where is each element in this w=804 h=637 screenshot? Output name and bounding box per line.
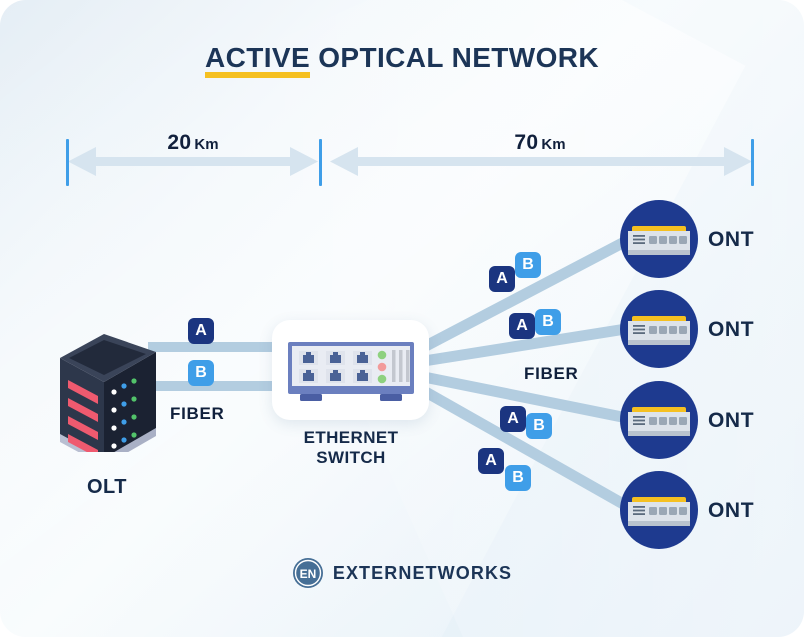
badge-letter: A [496,271,508,287]
badge-a-olt-link[interactable]: A [188,318,214,344]
fiber-line-olt-b [148,381,286,391]
ont-label-4: ONT [708,499,754,523]
switch-led-red [378,363,387,372]
badge-a-ont-3[interactable]: A [500,406,526,432]
externetworks-monogram-icon: EN [292,557,324,589]
badge-b-ont-2[interactable]: B [535,309,561,335]
badge-letter: B [195,365,207,381]
fiber-label-left: FIBER [170,404,225,424]
badge-letter: A [516,318,528,334]
olt-rack-icon [52,322,162,452]
fiber-label-right: FIBER [524,364,579,384]
ont-node-1[interactable] [620,200,698,278]
ont-node-2[interactable] [620,290,698,368]
badge-a-ont-4[interactable]: A [478,448,504,474]
badge-letter: B [533,418,545,434]
badge-letter: B [522,257,534,273]
ont-device-icon [620,471,698,549]
badge-b-olt-link[interactable]: B [188,360,214,386]
brand-name: EXTERNETWORKS [333,563,512,584]
ont-node-3[interactable] [620,381,698,459]
ont-label-1: ONT [708,228,754,252]
olt-label: OLT [52,476,162,499]
olt-device[interactable] [52,322,162,452]
badge-a-ont-1[interactable]: A [489,266,515,292]
switch-label-line2: SWITCH [316,448,385,467]
ethernet-switch-icon [272,320,429,420]
badge-b-ont-3[interactable]: B [526,413,552,439]
ont-node-4[interactable] [620,471,698,549]
fiber-line-olt-a [148,342,286,352]
badge-b-ont-1[interactable]: B [515,252,541,278]
switch-label-line1: ETHERNET [304,428,399,447]
badge-letter: A [195,323,207,339]
badge-letter: A [485,453,497,469]
badge-a-ont-2[interactable]: A [509,313,535,339]
switch-led-green-bottom [378,375,387,384]
ont-device-icon [620,290,698,368]
ont-device-icon [620,381,698,459]
brand-logo[interactable]: EN EXTERNETWORKS [0,557,804,589]
ont-label-2: ONT [708,318,754,342]
switch-led-green-top [378,351,387,360]
ont-label-3: ONT [708,409,754,433]
badge-b-ont-4[interactable]: B [505,465,531,491]
badge-letter: B [512,470,524,486]
infographic-canvas: ACTIVE OPTICAL NETWORK 20Km 70Km [0,0,804,637]
ethernet-switch-device[interactable] [272,320,429,420]
badge-letter: B [542,314,554,330]
badge-letter: A [507,411,519,427]
ethernet-switch-label: ETHERNET SWITCH [258,428,444,469]
ont-device-icon [620,200,698,278]
svg-text:EN: EN [300,567,317,581]
